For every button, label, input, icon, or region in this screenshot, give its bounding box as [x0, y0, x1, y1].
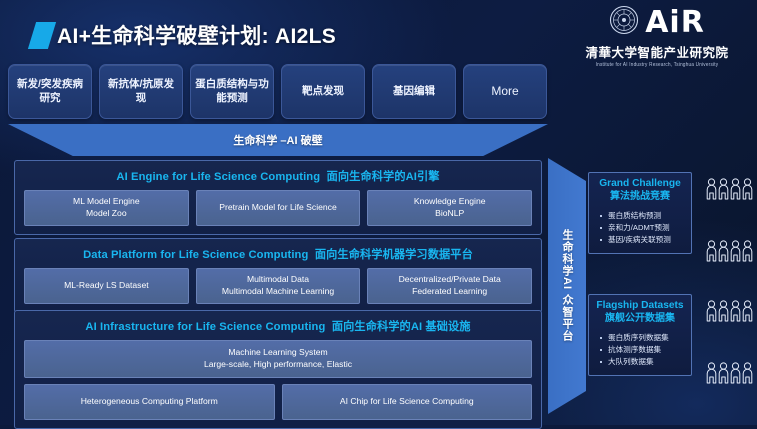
capability-cell[interactable]: Pretrain Model for Life Science — [196, 190, 361, 226]
panel-title-en: AI Infrastructure for Life Science Compu… — [85, 321, 325, 333]
panel-title-en: Data Platform for Life Science Computing — [83, 249, 308, 261]
person-icon — [706, 240, 717, 267]
logo-english-name: Institute for AI Industry Research, Tsin… — [567, 62, 747, 68]
logo-wordmark: AiR — [645, 8, 705, 38]
nav-button-3[interactable]: 蛋白质结构与功能预测 — [190, 64, 274, 119]
page-title: AI+生命科学破壁计划: AI2LS — [32, 20, 336, 50]
capability-cell[interactable]: Decentralized/Private DataFederated Lear… — [367, 268, 532, 304]
nav-button-label: 新抗体/抗原发现 — [104, 78, 178, 104]
tsinghua-seal-icon — [609, 5, 639, 40]
people-group-3 — [706, 300, 753, 327]
panel-row: Heterogeneous Computing PlatformAI Chip … — [24, 384, 532, 420]
title-accent-mark — [28, 22, 56, 49]
capability-cell[interactable]: ML-Ready LS Dataset — [24, 268, 189, 304]
nav-button-2[interactable]: 新抗体/抗原发现 — [99, 64, 183, 119]
right-card-2[interactable]: Flagship Datasets旗舰公开数据集蛋白质序列数据集抗体测序数据集大… — [588, 294, 692, 376]
list-item: 蛋白质结构预测 — [599, 210, 685, 222]
capability-cell[interactable]: Heterogeneous Computing Platform — [24, 384, 275, 420]
person-icon — [730, 178, 741, 205]
air-logo: AiR 清華大学智能产业研究院 Institute for AI Industr… — [567, 5, 747, 67]
right-card-list: 蛋白质结构预测亲和力/ADMT预测基因/疾病关联预测 — [595, 210, 685, 245]
list-item: 亲和力/ADMT预测 — [599, 222, 685, 234]
person-icon — [730, 300, 741, 327]
person-icon — [718, 240, 729, 267]
list-item: 大队列数据集 — [599, 356, 685, 368]
panel-title-cn: 面向生命科学的AI引擎 — [327, 171, 440, 183]
person-icon — [706, 300, 717, 327]
funnel-banner: 生命科学 –AI 破壁 — [8, 124, 548, 156]
person-icon — [730, 362, 741, 389]
person-icon — [718, 300, 729, 327]
right-card-title-en: Flagship Datasets — [595, 300, 685, 312]
people-group-1 — [706, 178, 753, 205]
nav-button-6[interactable]: More — [463, 64, 547, 119]
platform-panel-2: Data Platform for Life Science Computing… — [14, 238, 542, 313]
nav-button-label: 靶点发现 — [302, 85, 344, 98]
platform-panel-1: AI Engine for Life Science Computing 面向生… — [14, 160, 542, 235]
capability-cell-label: AI Chip for Life Science Computing — [340, 396, 474, 408]
person-icon — [718, 178, 729, 205]
capability-cell-label: ML Model EngineModel Zoo — [73, 196, 140, 219]
platform-panel-3: AI Infrastructure for Life Science Compu… — [14, 310, 542, 429]
panel-title: Data Platform for Life Science Computing… — [24, 246, 532, 262]
panel-title-cn: 面向生命科学的AI 基础设施 — [332, 321, 471, 333]
person-icon — [730, 240, 741, 267]
capability-cell[interactable]: Machine Learning SystemLarge-scale, High… — [24, 340, 532, 378]
funnel-label: 生命科学 –AI 破壁 — [233, 132, 322, 148]
people-group-2 — [706, 240, 753, 267]
panel-title: AI Engine for Life Science Computing 面向生… — [24, 168, 532, 184]
capability-cell[interactable]: Knowledge EngineBioNLP — [367, 190, 532, 226]
person-icon — [742, 362, 753, 389]
capability-cell-label: Machine Learning SystemLarge-scale, High… — [204, 347, 352, 370]
page-title-text: AI+生命科学破壁计划: AI2LS — [57, 20, 336, 50]
person-icon — [742, 240, 753, 267]
capability-cell-label: Decentralized/Private DataFederated Lear… — [399, 274, 501, 297]
panel-title-en: AI Engine for Life Science Computing — [116, 171, 320, 183]
person-icon — [742, 178, 753, 205]
capability-cell-label: Heterogeneous Computing Platform — [81, 396, 218, 408]
person-icon — [706, 362, 717, 389]
person-icon — [742, 300, 753, 327]
list-item: 基因/疾病关联预测 — [599, 234, 685, 246]
person-icon — [706, 178, 717, 205]
slide-canvas: AI+生命科学破壁计划: AI2LS — [0, 0, 757, 425]
capability-cell-label: Pretrain Model for Life Science — [219, 202, 337, 214]
logo-chinese-name: 清華大学智能产业研究院 — [567, 42, 747, 61]
right-card-title-cn: 旗舰公开数据集 — [595, 313, 685, 325]
nav-button-label: 新发/突发疾病研究 — [13, 78, 87, 104]
panel-row: ML Model EngineModel ZooPretrain Model f… — [24, 190, 532, 226]
list-item: 蛋白质序列数据集 — [599, 332, 685, 344]
nav-button-1[interactable]: 新发/突发疾病研究 — [8, 64, 92, 119]
nav-button-label: More — [491, 84, 518, 99]
people-group-4 — [706, 362, 753, 389]
application-buttons: 新发/突发疾病研究新抗体/抗原发现蛋白质结构与功能预测靶点发现基因编辑More — [8, 64, 547, 119]
panel-title: AI Infrastructure for Life Science Compu… — [24, 318, 532, 334]
capability-cell-label: Multimodal DataMultimodal Machine Learni… — [222, 274, 334, 297]
capability-cell[interactable]: Multimodal DataMultimodal Machine Learni… — [196, 268, 361, 304]
capability-cell[interactable]: AI Chip for Life Science Computing — [282, 384, 533, 420]
panel-row: ML-Ready LS DatasetMultimodal DataMultim… — [24, 268, 532, 304]
nav-button-4[interactable]: 靶点发现 — [281, 64, 365, 119]
nav-button-label: 基因编辑 — [393, 85, 435, 98]
right-card-title-en: Grand Challenge — [595, 178, 685, 190]
panel-title-cn: 面向生命科学机器学习数据平台 — [315, 249, 473, 261]
capability-cell-label: Knowledge EngineBioNLP — [414, 196, 486, 219]
logo-top-row: AiR — [567, 5, 747, 40]
panel-row: Machine Learning SystemLarge-scale, High… — [24, 340, 532, 378]
platform-band: 生命科学AI 众智平台 — [548, 158, 586, 414]
person-icon — [718, 362, 729, 389]
capability-cell-label: ML-Ready LS Dataset — [64, 280, 149, 292]
list-item: 抗体测序数据集 — [599, 344, 685, 356]
capability-cell[interactable]: ML Model EngineModel Zoo — [24, 190, 189, 226]
right-card-title-cn: 算法挑战竞赛 — [595, 191, 685, 203]
right-card-1[interactable]: Grand Challenge算法挑战竞赛蛋白质结构预测亲和力/ADMT预测基因… — [588, 172, 692, 254]
nav-button-label: 蛋白质结构与功能预测 — [195, 78, 269, 104]
right-card-list: 蛋白质序列数据集抗体测序数据集大队列数据集 — [595, 332, 685, 367]
nav-button-5[interactable]: 基因编辑 — [372, 64, 456, 119]
platform-band-label: 生命科学AI 众智平台 — [559, 229, 575, 342]
